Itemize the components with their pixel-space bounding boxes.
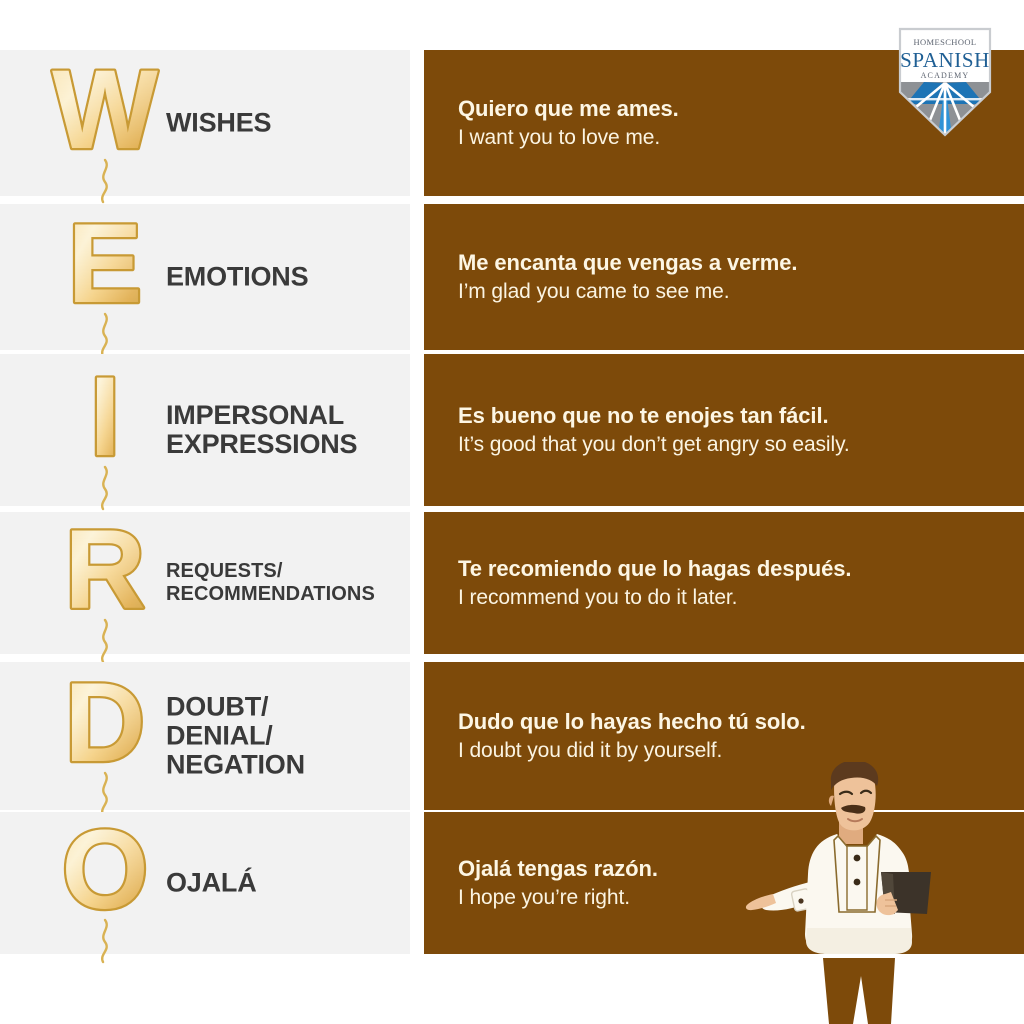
english-translation: I hope you’re right. (458, 885, 1024, 911)
row-gutter (410, 354, 424, 506)
example-panel-o: Ojalá tengas razón. I hope you’re right. (424, 812, 1024, 954)
category-label-i: IMPERSONAL EXPRESSIONS (166, 401, 357, 459)
logo-line-3: ACADEMY (921, 71, 970, 80)
weird-row-w: W W WISHES Quiero que me ames. I want yo… (0, 50, 1024, 196)
balloon-letter-glyph: I I (45, 351, 165, 509)
example-panel-e: Me encanta que vengas a verme. I’m glad … (424, 204, 1024, 350)
balloon-letter-w: W W (45, 58, 165, 188)
balloon-letter-glyph: O O (45, 804, 165, 962)
category-panel-w: W W WISHES (0, 50, 410, 196)
row-gutter (410, 662, 424, 810)
weird-row-d: D D DOUBT/ DENIAL/ NEGATION Dudo que lo … (0, 662, 1024, 810)
balloon-letter-i: I I (45, 365, 165, 495)
category-panel-r: R R REQUESTS/ RECOMMENDATIONS (0, 512, 410, 654)
balloon-letter-glyph: E E (45, 198, 165, 356)
spanish-sentence: Me encanta que vengas a verme. (458, 249, 1024, 277)
english-translation: I’m glad you came to see me. (458, 279, 1024, 305)
english-translation: It’s good that you don’t get angry so ea… (458, 432, 1024, 458)
weird-row-o: O O OJALÁ Ojalá tengas razón. I hope you… (0, 812, 1024, 954)
english-translation: I doubt you did it by yourself. (458, 738, 1024, 764)
spanish-sentence: Dudo que lo hayas hecho tú solo. (458, 708, 1024, 736)
logo-line-1: HOMESCHOOL (913, 37, 976, 47)
spanish-sentence: Te recomiendo que lo hagas después. (458, 555, 1024, 583)
row-gutter (410, 512, 424, 654)
spanish-sentence: Es bueno que no te enojes tan fácil. (458, 402, 1024, 430)
balloon-letter-glyph: R R (45, 504, 165, 662)
homeschool-spanish-academy-logo: HOMESCHOOL SPANISH ACADEMY (896, 26, 994, 138)
balloon-letter-glyph: W W (45, 44, 165, 202)
balloon-letter-d: D D (45, 671, 165, 801)
svg-text:E: E (68, 201, 143, 326)
category-label-r: REQUESTS/ RECOMMENDATIONS (166, 560, 375, 606)
svg-text:E: E (68, 201, 143, 326)
example-panel-d: Dudo que lo hayas hecho tú solo. I doubt… (424, 662, 1024, 810)
svg-text:I: I (89, 354, 120, 479)
spanish-sentence: Ojalá tengas razón. (458, 855, 1024, 883)
weird-row-r: R R REQUESTS/ RECOMMENDATIONS Te recomie… (0, 512, 1024, 654)
category-label-o: OJALÁ (166, 868, 257, 897)
svg-text:R: R (65, 507, 146, 632)
shield-logo-icon: HOMESCHOOL SPANISH ACADEMY (896, 26, 994, 138)
svg-text:I: I (89, 354, 120, 479)
category-panel-i: I I IMPERSONAL EXPRESSIONS (0, 354, 410, 506)
weird-row-i: I I IMPERSONAL EXPRESSIONS Es bueno que … (0, 354, 1024, 506)
category-panel-e: E E EMOTIONS (0, 204, 410, 350)
category-label-e: EMOTIONS (166, 262, 308, 291)
svg-text:D: D (65, 660, 146, 785)
row-gutter (410, 204, 424, 350)
svg-text:R: R (65, 507, 146, 632)
logo-line-2: SPANISH (900, 48, 990, 72)
balloon-letter-glyph: D D (45, 657, 165, 815)
balloon-letter-e: E E (45, 212, 165, 342)
category-panel-o: O O OJALÁ (0, 812, 410, 954)
row-gutter (410, 812, 424, 954)
category-label-w: WISHES (166, 108, 271, 137)
example-panel-r: Te recomiendo que lo hagas después. I re… (424, 512, 1024, 654)
category-panel-d: D D DOUBT/ DENIAL/ NEGATION (0, 662, 410, 810)
svg-text:O: O (61, 807, 148, 932)
balloon-letter-r: R R (45, 518, 165, 648)
svg-text:O: O (61, 807, 148, 932)
row-gutter (410, 50, 424, 196)
balloon-letter-o: O O (45, 818, 165, 948)
infographic-canvas: W W WISHES Quiero que me ames. I want yo… (0, 0, 1024, 1024)
english-translation: I recommend you to do it later. (458, 585, 1024, 611)
svg-text:D: D (65, 660, 146, 785)
example-panel-i: Es bueno que no te enojes tan fácil. It’… (424, 354, 1024, 506)
weird-row-e: E E EMOTIONS Me encanta que vengas a ver… (0, 204, 1024, 350)
svg-text:W: W (52, 47, 158, 172)
svg-text:W: W (52, 47, 158, 172)
category-label-d: DOUBT/ DENIAL/ NEGATION (166, 692, 305, 779)
